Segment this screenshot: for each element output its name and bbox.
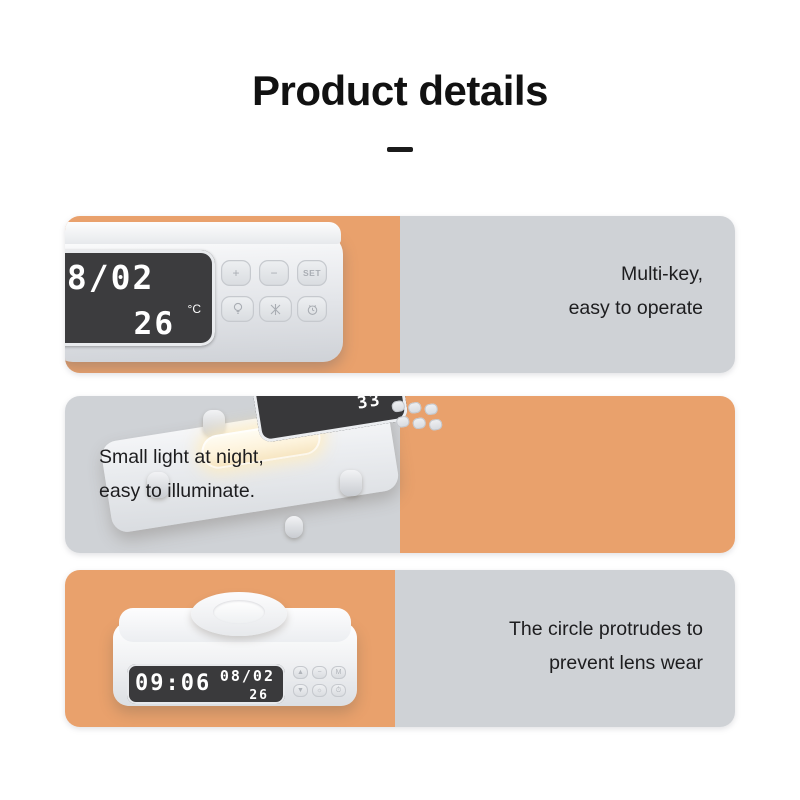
alarm-button[interactable]	[297, 296, 327, 322]
side-button-cluster	[391, 396, 445, 455]
alarm-button[interactable]: ⏱	[331, 684, 346, 697]
up-button[interactable]: ▲	[293, 666, 308, 679]
device-key[interactable]	[407, 401, 422, 414]
rubber-foot	[285, 516, 303, 538]
mode-button[interactable]: M	[331, 666, 346, 679]
display-temperature: 26	[249, 688, 269, 703]
control-button-grid: + − SET	[221, 260, 331, 332]
panel-2-orange-band	[400, 396, 735, 553]
clock-device-front: 08/02 26 °C + − SET	[65, 234, 343, 362]
set-button[interactable]: SET	[297, 260, 327, 286]
device-top-surface	[65, 222, 341, 244]
minus-button[interactable]: −	[312, 666, 327, 679]
display-temperature: 33	[356, 396, 383, 414]
display-date: 08/02	[65, 258, 154, 297]
device-key[interactable]	[428, 418, 443, 431]
detail-panel-multi-key: 08/02 26 °C + − SET	[65, 216, 735, 373]
charging-puck-ring	[213, 600, 265, 624]
panel-3-caption: The circle protrudes to prevent lens wea…	[509, 612, 703, 680]
device-key[interactable]	[424, 403, 439, 416]
display-temperature-unit: °C	[188, 302, 201, 316]
snooze-button[interactable]	[259, 296, 292, 322]
display-date: 08/02	[220, 667, 275, 685]
light-bulb-icon	[232, 302, 244, 316]
led-display-panel-3: 09:06 08/02 26	[127, 664, 285, 704]
device-key[interactable]	[391, 400, 406, 413]
light-button[interactable]	[221, 296, 254, 322]
plus-button[interactable]: +	[221, 260, 251, 286]
detail-panel-charging-circle: 09:06 08/02 26 ▲ − M ▼ ☼ ⏱ The circle pr…	[65, 570, 735, 727]
detail-panel-night-light: 10/14 33 Small light at night, easy to i…	[65, 396, 735, 553]
snooze-icon	[269, 303, 282, 316]
light-button[interactable]: ☼	[312, 684, 327, 697]
minus-button[interactable]: −	[259, 260, 289, 286]
led-display-panel-1: 08/02 26 °C	[65, 250, 215, 346]
rubber-foot	[340, 470, 362, 496]
down-button[interactable]: ▼	[293, 684, 308, 697]
page-title: Product details	[0, 70, 800, 112]
alarm-clock-icon	[306, 303, 319, 316]
panel-2-caption: Small light at night, easy to illuminate…	[99, 440, 264, 508]
rubber-foot	[203, 410, 225, 436]
panel-1-caption: Multi-key, easy to operate	[569, 257, 703, 325]
display-temperature: 26	[134, 306, 175, 342]
device-key[interactable]	[396, 415, 411, 428]
control-button-cluster: ▲ − M ▼ ☼ ⏱	[293, 666, 347, 702]
display-time: 09:06	[135, 671, 211, 696]
clock-device-full: 09:06 08/02 26 ▲ − M ▼ ☼ ⏱	[113, 586, 357, 714]
title-divider	[387, 147, 413, 152]
device-key[interactable]	[412, 417, 427, 430]
